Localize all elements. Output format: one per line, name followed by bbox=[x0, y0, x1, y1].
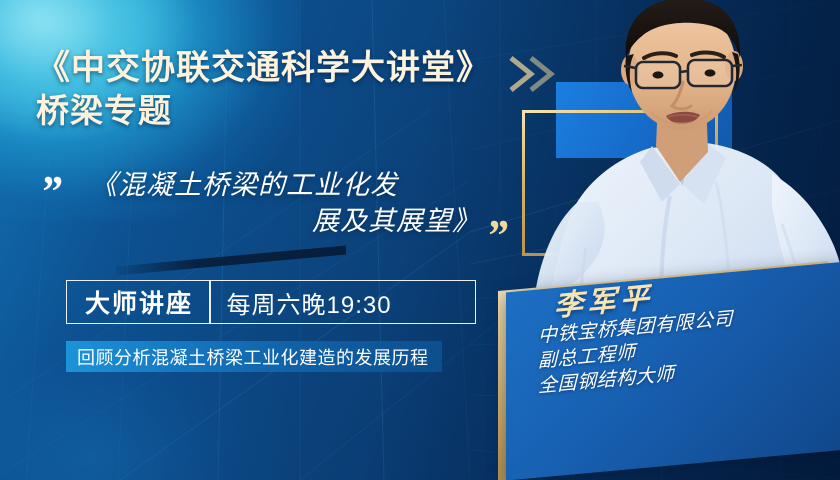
quote-open-mark: ” bbox=[40, 170, 62, 214]
lecture-label: 大师讲座 bbox=[67, 284, 209, 320]
topic-quote: ” 《混凝土桥梁的工业化发 展及其展望》 ” bbox=[38, 168, 528, 263]
poster-title: 《中交协联交通科学大讲堂》 桥梁专题 bbox=[36, 46, 516, 133]
lecture-poster: 《中交协联交通科学大讲堂》 桥梁专题 ” 《混凝土桥梁的工业化发 展及其展望》 … bbox=[0, 0, 840, 480]
quote-line-2: 展及其展望》 bbox=[84, 204, 494, 240]
title-line-2: 桥梁专题 bbox=[36, 90, 516, 133]
quote-close-mark: ” bbox=[486, 214, 508, 258]
speaker-info-panel: 李军平 中铁宝桥集团有限公司 副总工程师 全国钢结构大师 bbox=[498, 266, 840, 480]
bottom-left-glow bbox=[0, 300, 300, 480]
quote-line-1: 《混凝土桥梁的工业化发 bbox=[84, 168, 494, 204]
title-line-1: 《中交协联交通科学大讲堂》 bbox=[36, 46, 516, 90]
summary-banner: 回顾分析混凝土桥梁工业化建造的发展历程 bbox=[66, 341, 442, 372]
quote-text: 《混凝土桥梁的工业化发 展及其展望》 bbox=[84, 168, 494, 239]
lecture-time: 每周六晚19:30 bbox=[211, 285, 392, 320]
lecture-schedule-box: 大师讲座 每周六晚19:30 bbox=[66, 280, 476, 324]
summary-text: 回顾分析混凝土桥梁工业化建造的发展历程 bbox=[77, 344, 429, 370]
